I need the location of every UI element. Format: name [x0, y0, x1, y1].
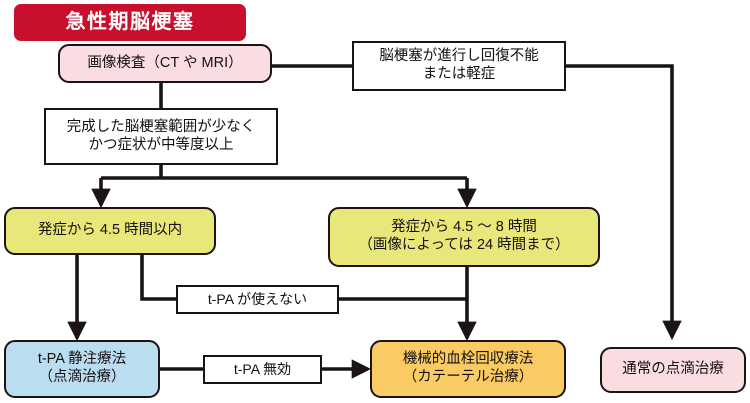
node-thrombectomy-label: 機械的血栓回収療法 （カテーテル治療）	[403, 351, 534, 386]
node-window-45-to-8-label: 発症から 4.5 ～ 8 時間 （画像によっては 24 時間まで）	[358, 219, 569, 254]
edge-within45-to-tpa-unusable	[142, 255, 176, 299]
node-window-45-to-8[interactable]: 発症から 4.5 ～ 8 時間 （画像によっては 24 時間まで）	[328, 207, 600, 267]
node-tpa-unusable[interactable]: t-PA が使えない	[176, 285, 339, 314]
diagram-title-text: 急性期脳梗塞	[66, 10, 195, 34]
node-tpa-ineffective[interactable]: t-PA 無効	[203, 355, 322, 384]
node-tpa-iv[interactable]: t-PA 静注療法 （点滴治療）	[4, 340, 160, 398]
node-criteria[interactable]: 完成した脳梗塞範囲が少なく かつ症状が中等度以上	[44, 108, 278, 165]
node-imaging[interactable]: 画像検査（CT や MRI）	[58, 44, 272, 83]
node-within45-label: 発症から 4.5 時間以内	[38, 222, 182, 240]
node-standard-drip[interactable]: 通常の点滴治療	[600, 347, 746, 393]
node-standard-drip-label: 通常の点滴治療	[622, 361, 724, 379]
flowchart-canvas: 急性期脳梗塞 画像検査（CT や MRI） 脳梗塞が進行し回復不能 または軽症 …	[0, 0, 750, 403]
edge-progressed-to-standard-drip	[566, 66, 672, 337]
node-criteria-label: 完成した脳梗塞範囲が少なく かつ症状が中等度以上	[67, 119, 256, 154]
node-tpa-ineffective-label: t-PA 無効	[234, 361, 291, 378]
node-imaging-label: 画像検査（CT や MRI）	[87, 55, 242, 73]
node-progressed-label: 脳梗塞が進行し回復不能 または軽症	[379, 48, 539, 83]
node-thrombectomy[interactable]: 機械的血栓回収療法 （カテーテル治療）	[370, 340, 566, 398]
node-progressed[interactable]: 脳梗塞が進行し回復不能 または軽症	[352, 41, 566, 91]
diagram-title: 急性期脳梗塞	[14, 4, 246, 41]
node-within45[interactable]: 発症から 4.5 時間以内	[4, 207, 216, 255]
node-tpa-iv-label: t-PA 静注療法 （点滴治療）	[38, 351, 126, 386]
node-tpa-unusable-label: t-PA が使えない	[208, 291, 307, 308]
